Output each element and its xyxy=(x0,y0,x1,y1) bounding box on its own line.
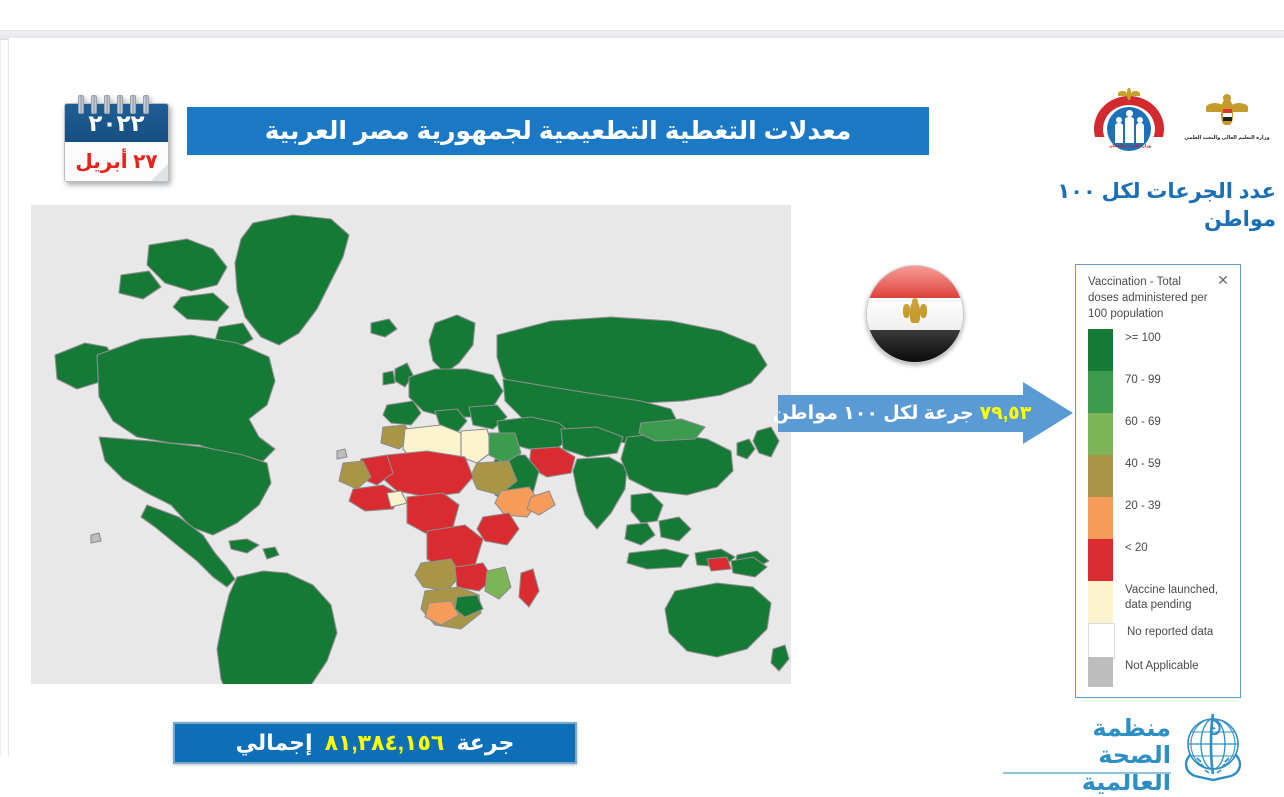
legend-swatch xyxy=(1088,371,1113,413)
who-logo: منظمة الصحة العالمية xyxy=(999,710,1249,782)
legend-item[interactable]: 70 - 99 xyxy=(1088,371,1238,413)
legend-items: >= 10070 - 9960 - 6940 - 5920 - 39< 20Va… xyxy=(1088,329,1238,687)
legend-item[interactable]: 20 - 39 xyxy=(1088,497,1238,539)
page-title-banner: معدلات التغطية التطعيمية لجمهورية مصر ال… xyxy=(187,107,929,155)
legend-label: < 20 xyxy=(1113,539,1148,556)
legend-label: 60 - 69 xyxy=(1113,413,1161,430)
ministry-of-higher-education-logo-icon: وزارة التعليم العالي والبحث العلمي xyxy=(1184,95,1270,161)
legend-swatch xyxy=(1088,413,1113,455)
page-title: معدلات التغطية التطعيمية لجمهورية مصر ال… xyxy=(265,116,852,146)
map-legend-panel[interactable]: ✕ Vaccination - Total doses administered… xyxy=(1075,264,1241,698)
world-choropleth-map[interactable] xyxy=(31,205,791,684)
moh-eagle-icon xyxy=(1118,87,1140,103)
doses-per-100-heading: عدد الجرعات لكل ١٠٠ مواطن xyxy=(1019,178,1284,235)
ministry-of-health-logo-icon: وزارة الصحة والسكان xyxy=(1094,93,1166,165)
who-underline xyxy=(1003,772,1171,774)
legend-label: >= 100 xyxy=(1113,329,1161,346)
calendar-day: ٢٧ أبريل xyxy=(75,152,157,172)
callout-label: جرعة لكل ١٠٠ مواطن xyxy=(773,402,974,425)
legend-item[interactable]: Vaccine launched, data pending xyxy=(1088,581,1238,623)
doses-per-100-callout: ٧٩,٥٣ جرعة لكل ١٠٠ مواطن xyxy=(778,382,1073,445)
legend-swatch xyxy=(1088,329,1113,371)
legend-item[interactable]: No reported data xyxy=(1088,623,1238,657)
calendar-rings xyxy=(76,95,156,113)
slide-canvas: ٢٠٢٢ ٢٧ أبريل معدلات التغطية التطعيمية ل… xyxy=(9,38,1284,757)
who-emblem-icon xyxy=(1177,710,1249,782)
legend-swatch xyxy=(1088,623,1115,659)
legend-swatch xyxy=(1088,455,1113,497)
calendar-body: ٢٠٢٢ ٢٧ أبريل xyxy=(64,103,169,182)
legend-swatch xyxy=(1088,657,1113,687)
window-top-strip xyxy=(0,0,1284,30)
total-doses-text: جرعة ٨١,٣٨٤,١٥٦ إجمالي xyxy=(236,730,515,756)
total-prefix: إجمالي xyxy=(236,730,313,755)
ministry-logos: وزارة الصحة والسكان وزارة التعليم العالي… xyxy=(1084,93,1284,173)
total-doses-value: ٨١,٣٨٤,١٥٦ xyxy=(325,730,445,755)
callout-value: ٧٩,٥٣ xyxy=(980,402,1032,425)
legend-swatch xyxy=(1088,581,1113,623)
legend-label: Vaccine launched, data pending xyxy=(1113,581,1238,613)
who-line-1: منظمة xyxy=(1003,716,1171,743)
egypt-flag-icon xyxy=(866,265,964,363)
legend-item[interactable]: < 20 xyxy=(1088,539,1238,581)
window-left-edge xyxy=(0,0,1,757)
total-doses-box: جرعة ٨١,٣٨٤,١٥٦ إجمالي xyxy=(173,722,577,764)
legend-title: Vaccination - Total doses administered p… xyxy=(1088,275,1208,323)
who-logo-text: منظمة الصحة العالمية xyxy=(1003,716,1171,797)
callout-content: ٧٩,٥٣ جرعة لكل ١٠٠ مواطن xyxy=(778,395,1026,432)
mohe-logo-caption: وزارة التعليم العالي والبحث العلمي xyxy=(1184,135,1270,141)
legend-label: 40 - 59 xyxy=(1113,455,1161,472)
legend-swatch xyxy=(1088,497,1113,539)
legend-item[interactable]: 60 - 69 xyxy=(1088,413,1238,455)
calendar-icon: ٢٠٢٢ ٢٧ أبريل xyxy=(64,95,167,180)
legend-item[interactable]: Not Applicable xyxy=(1088,657,1238,687)
calendar-fold-corner xyxy=(151,164,168,181)
legend-label: 70 - 99 xyxy=(1113,371,1161,388)
total-suffix: جرعة xyxy=(456,730,514,755)
close-icon[interactable]: ✕ xyxy=(1216,273,1230,287)
egypt-eagle-icon xyxy=(1206,95,1248,135)
legend-item[interactable]: >= 100 xyxy=(1088,329,1238,371)
moh-logo-caption: وزارة الصحة والسكان xyxy=(1100,143,1160,148)
legend-swatch xyxy=(1088,539,1113,581)
who-line-2: الصحة العالمية xyxy=(1003,743,1171,797)
calendar-year: ٢٠٢٢ xyxy=(88,112,144,135)
legend-label: 20 - 39 xyxy=(1113,497,1161,514)
legend-label: Not Applicable xyxy=(1113,657,1199,674)
legend-label: No reported data xyxy=(1115,623,1213,640)
legend-item[interactable]: 40 - 59 xyxy=(1088,455,1238,497)
